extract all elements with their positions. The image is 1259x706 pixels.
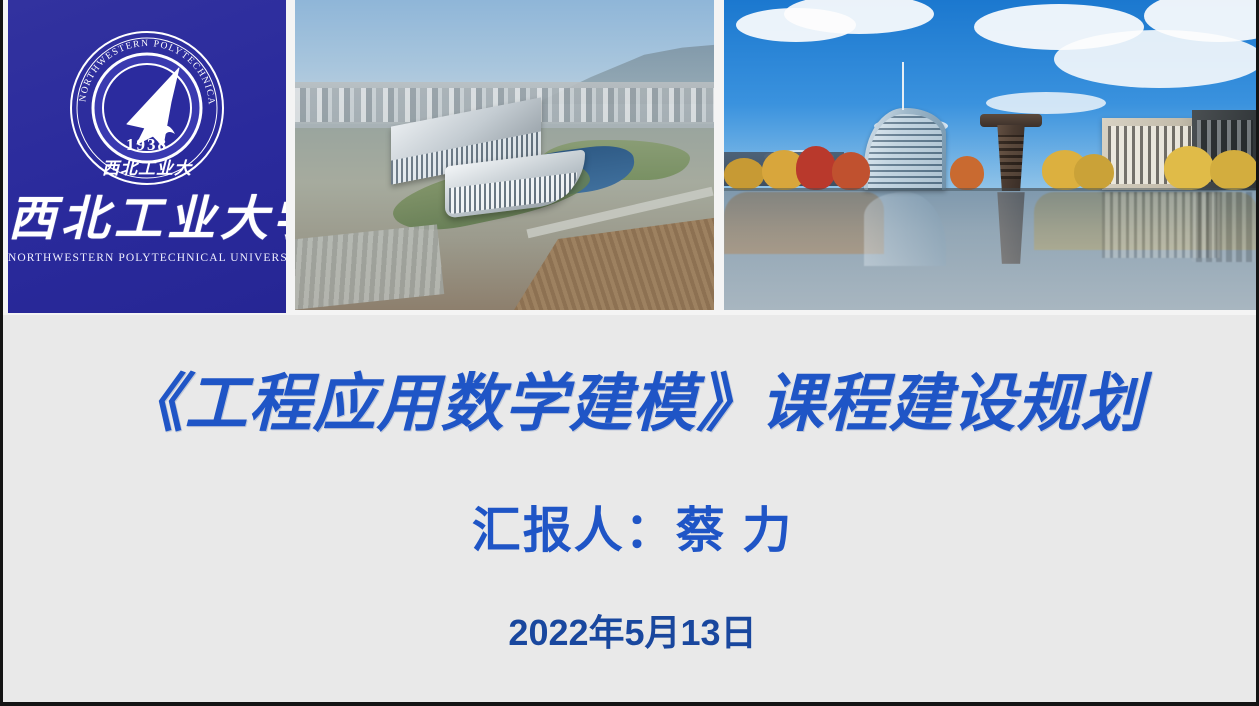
slide-title: 《工程应用数学建模》课程建设规划: [3, 371, 1259, 437]
aerial-campus-photo: [295, 0, 714, 310]
autumn-tree: [832, 152, 870, 190]
autumn-tree: [796, 146, 836, 190]
presentation-date: 2022年5月13日: [3, 613, 1259, 653]
sculpture-body: [992, 125, 1030, 191]
header-banner: NORTHWESTERN POLYTECHNICAL UNIVERSITY 19…: [3, 0, 1259, 315]
university-logo-panel: NORTHWESTERN POLYTECHNICAL UNIVERSITY 19…: [8, 0, 286, 313]
autumn-tree: [1074, 154, 1114, 190]
svg-text:1938: 1938: [126, 135, 168, 154]
lakeside-campus-photo: [724, 0, 1258, 310]
autumn-tree: [724, 158, 764, 190]
presenter-label: 汇报人：蔡 力: [3, 505, 1259, 559]
university-name-en: NORTHWESTERN POLYTECHNICAL UNIVERSITY: [8, 252, 286, 264]
presentation-slide: NORTHWESTERN POLYTECHNICAL UNIVERSITY 19…: [0, 0, 1259, 706]
building-reflection: [1192, 192, 1258, 262]
tower-spire: [902, 62, 904, 110]
shoreline: [724, 188, 1258, 191]
bronze-ding-sculpture: [980, 114, 1042, 190]
autumn-tree: [1164, 146, 1214, 190]
svg-text:西北工业大: 西北工业大: [102, 159, 193, 178]
autumn-tree: [950, 156, 984, 190]
tree-reflection: [724, 192, 884, 254]
npu-seal-emblem: NORTHWESTERN POLYTECHNICAL UNIVERSITY 19…: [67, 28, 227, 188]
university-name-cn: 西北工业大学: [8, 196, 286, 244]
autumn-tree: [1210, 150, 1258, 190]
cloud: [986, 92, 1106, 114]
